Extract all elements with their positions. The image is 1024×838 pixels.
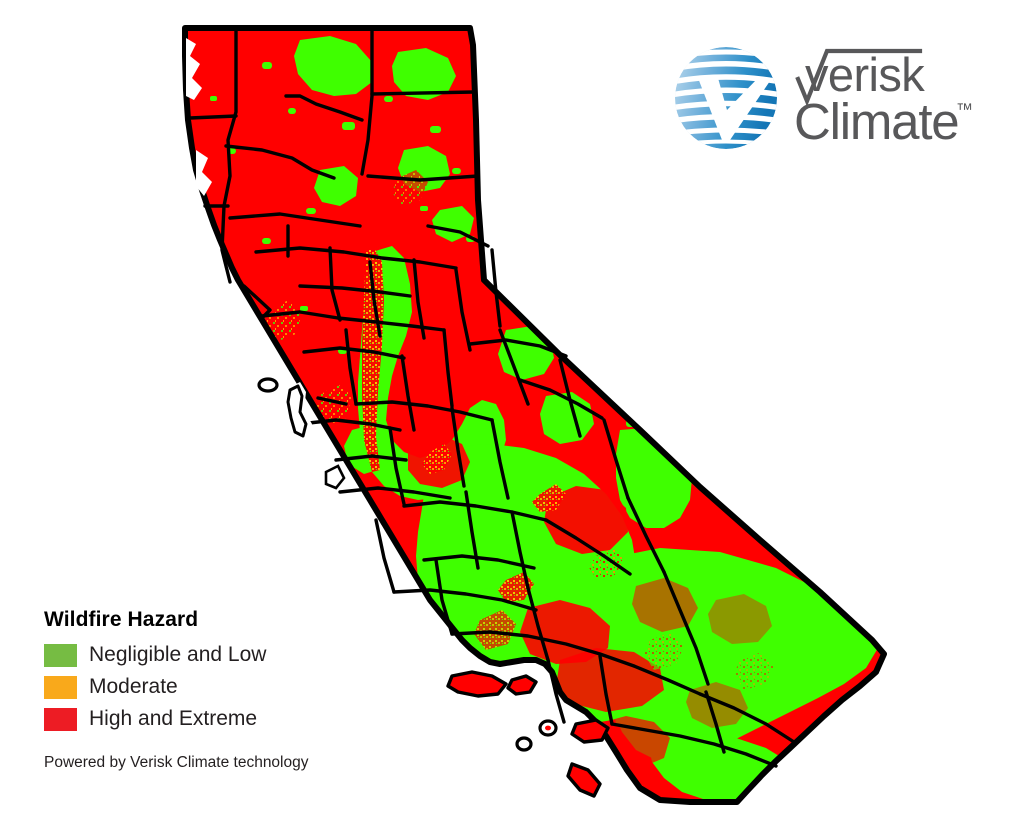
verisk-climate-logo: verisk Climate ™ [672, 38, 1002, 158]
legend-item-high-extreme: High and Extreme [44, 707, 444, 731]
legend-swatch-moderate [44, 676, 77, 699]
legend: Wildfire Hazard Negligible and Low Moder… [44, 608, 444, 772]
legend-item-moderate: Moderate [44, 675, 444, 699]
legend-label-moderate: Moderate [89, 675, 178, 699]
trademark-text: ™ [956, 100, 973, 119]
legend-label-negligible-low: Negligible and Low [89, 643, 266, 667]
legend-swatch-high-extreme [44, 708, 77, 731]
legend-title: Wildfire Hazard [44, 608, 444, 631]
verisk-globe-icon [672, 44, 780, 152]
verisk-climate-wordmark: verisk Climate ™ [794, 45, 994, 151]
climate-text: Climate [794, 93, 958, 150]
legend-item-negligible-low: Negligible and Low [44, 643, 444, 667]
legend-swatch-negligible-low [44, 644, 77, 667]
wildfire-hazard-map-page: verisk Climate ™ Wildfire Hazard Negligi… [0, 0, 1024, 838]
legend-footnote: Powered by Verisk Climate technology [44, 754, 444, 772]
legend-label-high-extreme: High and Extreme [89, 707, 257, 731]
